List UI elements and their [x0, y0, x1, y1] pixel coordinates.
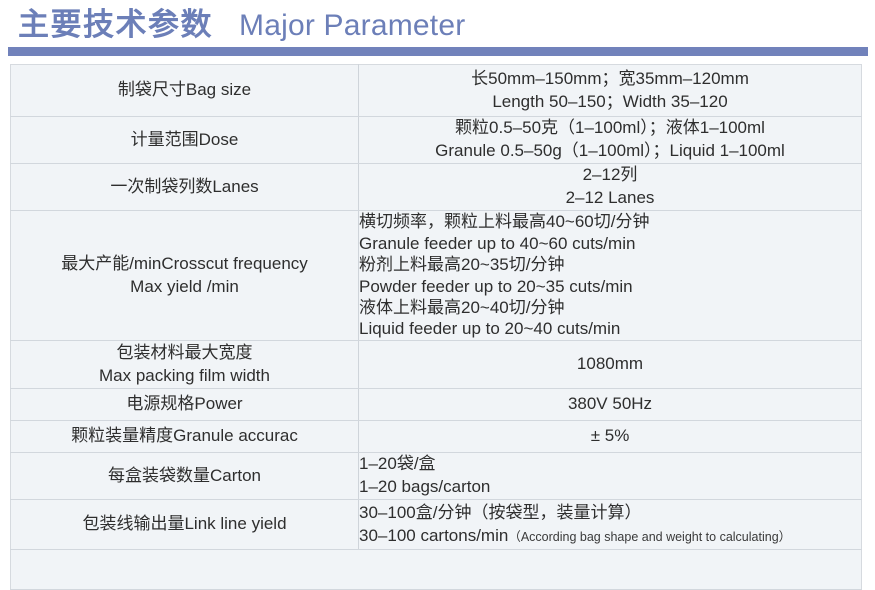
row-label-bag-size: 制袋尺寸Bag size: [11, 65, 359, 117]
title-underline-bar: [8, 47, 868, 56]
table-row: 包装材料最大宽度 Max packing film width 1080mm: [11, 341, 862, 389]
page-title-cn: 主要技术参数: [18, 9, 213, 40]
table-row-empty: [11, 550, 862, 590]
row-label-lanes: 一次制袋列数Lanes: [11, 164, 359, 211]
row-label-max-yield: 最大产能/minCrosscut frequency Max yield /mi…: [11, 211, 359, 341]
specification-table: 制袋尺寸Bag size 长50mm–150mm；宽35mm–120mm Len…: [10, 64, 862, 590]
table-row: 每盒装袋数量Carton 1–20袋/盒 1–20 bags/carton: [11, 453, 862, 500]
row-label-film-width: 包装材料最大宽度 Max packing film width: [11, 341, 359, 389]
table-row: 电源规格Power 380V 50Hz: [11, 389, 862, 421]
table-row: 一次制袋列数Lanes 2–12列 2–12 Lanes: [11, 164, 862, 211]
row-value-carton: 1–20袋/盒 1–20 bags/carton: [359, 453, 862, 500]
page-header: 主要技术参数 Major Parameter: [0, 0, 875, 62]
row-value-bag-size: 长50mm–150mm；宽35mm–120mm Length 50–150；Wi…: [359, 65, 862, 117]
row-value-power: 380V 50Hz: [359, 389, 862, 421]
row-value-lanes: 2–12列 2–12 Lanes: [359, 164, 862, 211]
page-title-en: Major Parameter: [239, 11, 465, 41]
row-label-power: 电源规格Power: [11, 389, 359, 421]
table-row: 颗粒装量精度Granule accurac ± 5%: [11, 421, 862, 453]
row-value-max-yield: 横切频率，颗粒上料最高40~60切/分钟 Granule feeder up t…: [359, 211, 862, 341]
link-line-yield-note: （According bag shape and weight to calcu…: [508, 530, 791, 544]
row-label-link-line-yield: 包装线输出量Link line yield: [11, 500, 359, 550]
row-label-dose: 计量范围Dose: [11, 117, 359, 164]
row-value-dose: 颗粒0.5–50克（1–100ml）；液体1–100ml Granule 0.5…: [359, 117, 862, 164]
row-value-link-line-yield: 30–100盒/分钟（按袋型，装量计算） 30–100 cartons/min（…: [359, 500, 862, 550]
row-empty-cell: [11, 550, 862, 590]
table-row: 最大产能/minCrosscut frequency Max yield /mi…: [11, 211, 862, 341]
row-value-granule-accuracy: ± 5%: [359, 421, 862, 453]
row-label-carton: 每盒装袋数量Carton: [11, 453, 359, 500]
page-title: 主要技术参数 Major Parameter: [18, 9, 875, 41]
table-row: 制袋尺寸Bag size 长50mm–150mm；宽35mm–120mm Len…: [11, 65, 862, 117]
table-row: 包装线输出量Link line yield 30–100盒/分钟（按袋型，装量计…: [11, 500, 862, 550]
table-row: 计量范围Dose 颗粒0.5–50克（1–100ml）；液体1–100ml Gr…: [11, 117, 862, 164]
row-label-granule-accuracy: 颗粒装量精度Granule accurac: [11, 421, 359, 453]
row-value-film-width: 1080mm: [359, 341, 862, 389]
